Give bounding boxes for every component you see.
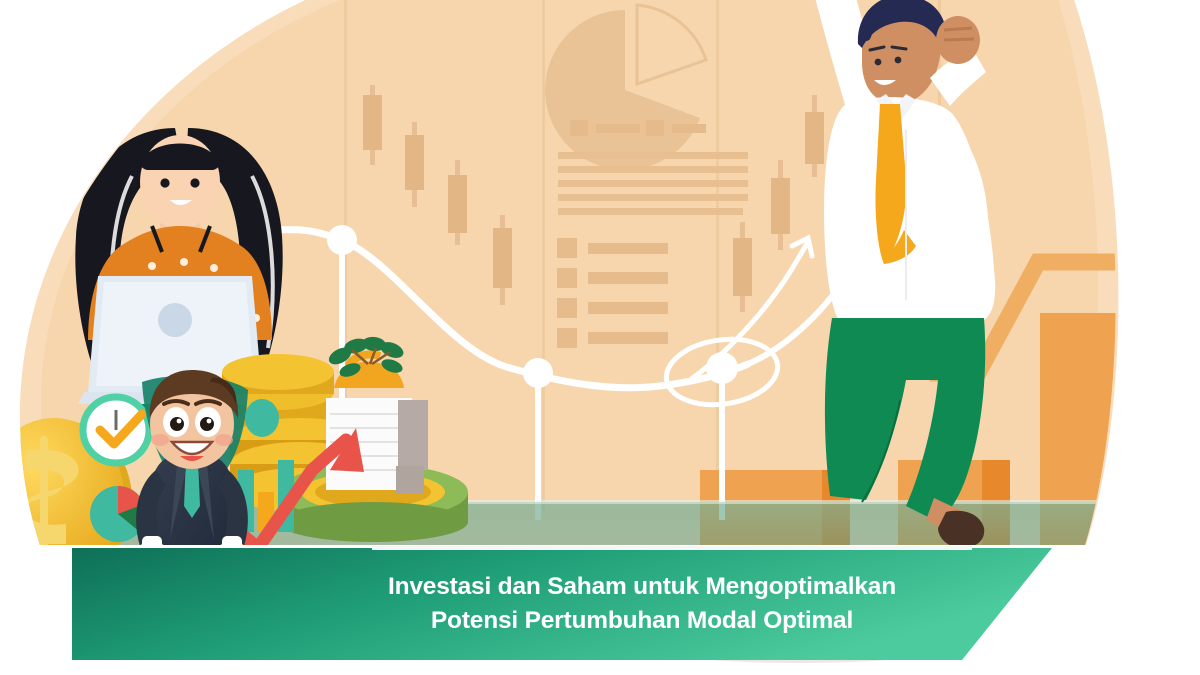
title-banner: Investasi dan Saham untuk Mengoptimalkan… [72,548,1052,660]
clock-check [83,397,149,463]
banner-shape [72,548,1052,660]
teal-accent-blob [245,399,279,437]
banner-top-rule [372,546,972,550]
illustration-canvas: Investasi dan Saham untuk Mengoptimalkan… [0,0,1200,675]
